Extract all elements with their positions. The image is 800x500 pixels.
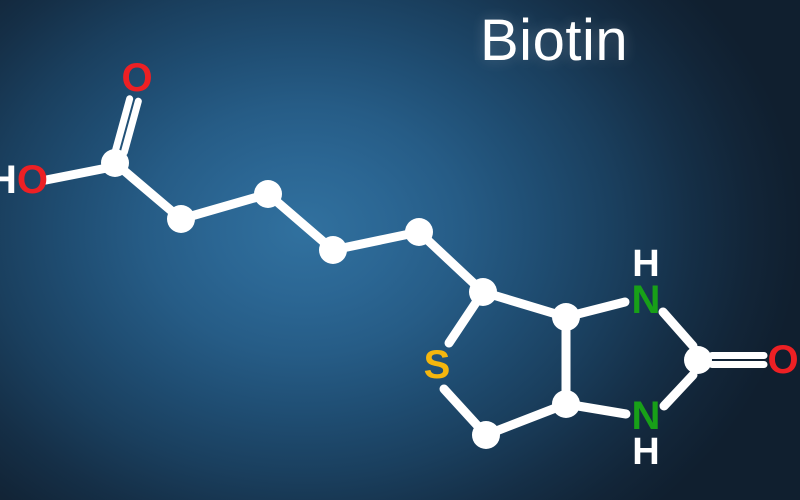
atom-label-h2: H (632, 431, 659, 473)
atom-node-c5 (405, 218, 433, 246)
bond-HO-C1 (46, 168, 107, 180)
atom-node-c7 (472, 421, 500, 449)
atom-node-c9 (552, 303, 580, 331)
bond-C10-N2 (664, 375, 693, 406)
chemical-structure-svg: HOOSNHNHO (0, 0, 800, 500)
atom-node-c2 (167, 205, 195, 233)
atom-label-h1: H (632, 243, 659, 285)
molecule-diagram-canvas: HOOSNHNHO Biotin (0, 0, 800, 500)
atom-label-s: S (424, 343, 451, 387)
atom-label-ho: HO (0, 158, 48, 202)
atom-node-c3 (254, 180, 282, 208)
atom-label-o2: O (767, 338, 798, 382)
atom-node-c10 (684, 346, 712, 374)
atom-node-c1 (101, 149, 129, 177)
atom-node-c6 (469, 278, 497, 306)
atom-node-c8 (552, 390, 580, 418)
atom-label-o1: O (121, 56, 152, 100)
atom-node-c4 (319, 236, 347, 264)
bond-N1-C10 (663, 312, 693, 346)
atom-layer: HOOSNHNHO (0, 56, 799, 473)
